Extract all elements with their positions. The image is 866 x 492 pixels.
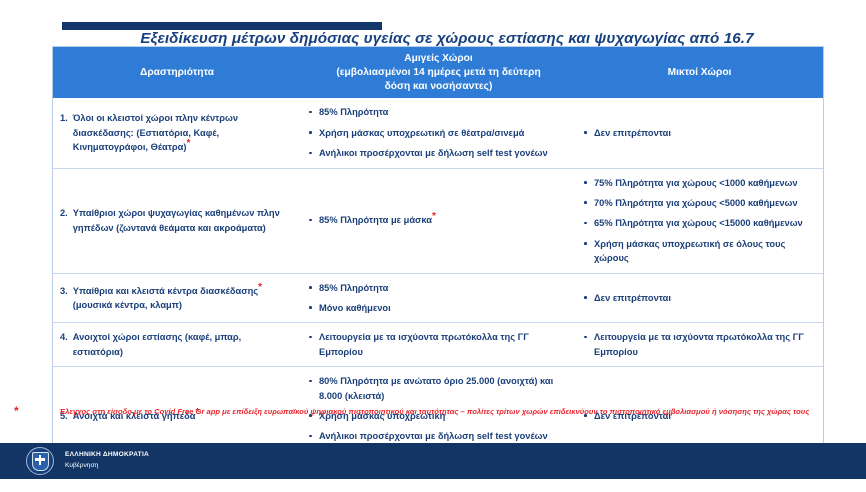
column-header-pure-line3: δόση και νοσήσαντες) [336,80,540,94]
table-row: 4.Ανοιχτοί χώροι εστίασης (καφέ, μπαρ, ε… [53,322,823,366]
table-row: 3.Υπαίθρια και κλειστά κέντρα διασκέδαση… [53,273,823,323]
activity-label: Υπαίθρια και κλειστά κέντρα διασκέδασης*… [73,284,292,313]
title-accent-bar [62,22,382,30]
measure-item: Ανήλικοι προσέρχονται με δήλωση self tes… [308,146,567,160]
activity-number: 3. [60,284,68,298]
required-check-asterisk: * [432,211,436,222]
activity-label: Υπαίθριοι χώροι ψυχαγωγίας καθημένων πλη… [73,206,292,235]
shield-icon [32,452,49,471]
measure-item: Λειτουργεία με τα ισχύοντα πρωτόκολλα τη… [308,330,567,359]
required-check-asterisk: * [186,138,190,149]
footnote-marker: * [14,404,19,418]
measure-item: Δεν επιτρέπονται [583,126,814,140]
column-header-pure-venues: Αμιγείς Χώροι (εμβολιασμένοι 14 ημέρες μ… [301,47,576,98]
cell-mixed-venues: Δεν επιτρέπονται [576,98,823,167]
measure-item: Μόνο καθήμενοι [308,301,567,315]
footer-line-republic: ΕΛΛΗΝΙΚΗ ΔΗΜΟΚΡΑΤΙΑ [65,451,149,460]
measure-item: 75% Πληρότητα για χώρους <1000 καθήμενων [583,176,814,190]
footer-line-government: Κυβέρνηση [65,462,149,471]
activity-label-tail: (μουσικά κέντρα, κλαμπ) [73,298,292,312]
cell-activity: 1.Όλοι οι κλειστοί χώροι πλην κέντρων δι… [53,98,301,167]
cell-pure-venues: 85% ΠληρότηταΜόνο καθήμενοι [301,274,576,323]
cell-activity: 4.Ανοιχτοί χώροι εστίασης (καφέ, μπαρ, ε… [53,323,301,366]
measure-item: Χρήση μάσκας υποχρεωτική σε θέατρα/σινεμ… [308,126,567,140]
measure-item: 85% Πληρότητα [308,281,567,295]
cell-pure-venues: 85% Πληρότητα με μάσκα* [301,169,576,273]
measure-item: Δεν επιτρέπονται [583,291,814,305]
greek-coat-of-arms-icon [26,447,54,475]
activity-number: 4. [60,330,68,344]
table-row: 1.Όλοι οι κλειστοί χώροι πλην κέντρων δι… [53,98,823,167]
measure-item: Λειτουργεία με τα ισχύοντα πρωτόκολλα τη… [583,330,814,359]
cell-activity: 3.Υπαίθρια και κλειστά κέντρα διασκέδαση… [53,274,301,323]
measure-item: 85% Πληρότητα [308,105,567,119]
cell-pure-venues: Λειτουργεία με τα ισχύοντα πρωτόκολλα τη… [301,323,576,366]
table-row: 2.Υπαίθριοι χώροι ψυχαγωγίας καθημένων π… [53,168,823,273]
page-footer: ΕΛΛΗΝΙΚΗ ΔΗΜΟΚΡΑΤΙΑ Κυβέρνηση [0,443,866,479]
table-header-row: Δραστηριότητα Αμιγείς Χώροι (εμβολιασμέν… [53,47,823,98]
activity-label: Ανοιχτοί χώροι εστίασης (καφέ, μπαρ, εστ… [73,330,292,359]
cell-mixed-venues: 75% Πληρότητα για χώρους <1000 καθήμενων… [576,169,823,273]
measure-item: Χρήση μάσκας υποχρεωτική σε όλους τους χ… [583,237,814,266]
column-header-activity: Δραστηριότητα [53,47,301,98]
slide: Εξειδίκευση μέτρων δημόσιας υγείας σε χώ… [0,0,866,492]
activity-label: Όλοι οι κλειστοί χώροι πλην κέντρων διασ… [73,111,292,154]
measures-table: Δραστηριότητα Αμιγείς Χώροι (εμβολιασμέν… [52,46,824,466]
required-check-asterisk: * [258,281,262,292]
cell-activity: 2.Υπαίθριοι χώροι ψυχαγωγίας καθημένων π… [53,169,301,273]
cell-mixed-venues: Δεν επιτρέπονται [576,274,823,323]
measure-item: 80% Πληρότητα με ανώτατο όριο 25.000 (αν… [308,374,567,403]
column-header-mixed-venues: Μικτοί Χώροι [576,47,823,98]
cell-pure-venues: 85% ΠληρότηταΧρήση μάσκας υποχρεωτική σε… [301,98,576,167]
measure-item: 85% Πληρότητα με μάσκα* [308,213,567,227]
page-title: Εξειδίκευση μέτρων δημόσιας υγείας σε χώ… [52,30,842,47]
footnote-text: Έλεγχος στη είσοδο με το Covid Free Gr a… [24,406,844,418]
activity-number: 1. [60,111,68,125]
activity-number: 2. [60,206,68,220]
measure-item: 70% Πληρότητα για χώρους <5000 καθήμενων [583,196,814,210]
column-header-pure-line1: Αμιγείς Χώροι [336,52,540,66]
cell-mixed-venues: Λειτουργεία με τα ισχύοντα πρωτόκολλα τη… [576,323,823,366]
column-header-pure-line2: (εμβολιασμένοι 14 ημέρες μετά τη δεύτερη [336,66,540,80]
measure-item: 65% Πληρότητα για χώρους <15000 καθήμενω… [583,216,814,230]
footer-text-block: ΕΛΛΗΝΙΚΗ ΔΗΜΟΚΡΑΤΙΑ Κυβέρνηση [65,451,149,470]
